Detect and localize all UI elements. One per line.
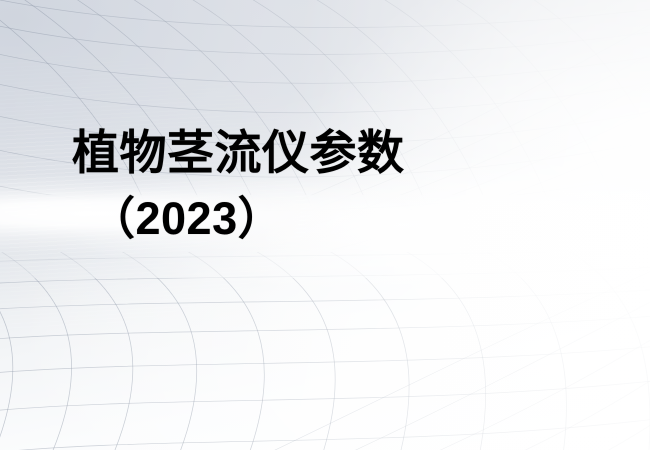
page-title: 植物茎流仪参数 <box>0 128 650 179</box>
page-subtitle-year: （2023） <box>0 195 650 244</box>
title-slide: 植物茎流仪参数 （2023） <box>0 0 650 450</box>
title-block: 植物茎流仪参数 （2023） <box>0 128 650 243</box>
